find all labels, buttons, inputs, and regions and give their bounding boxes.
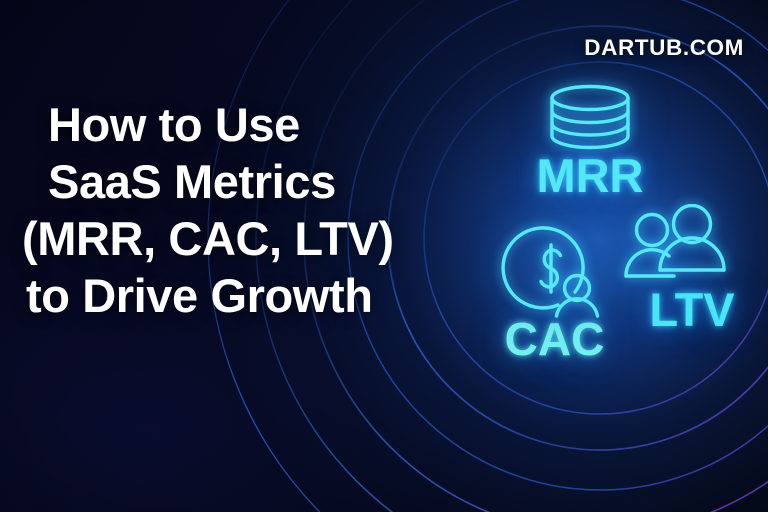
site-logo: DARTUB.COM	[584, 35, 744, 61]
title-line-2: SaaS Metrics	[22, 153, 432, 210]
page-title: How to Use SaaS Metrics (MRR, CAC, LTV) …	[22, 96, 432, 324]
title-line-4: to Drive Growth	[22, 267, 432, 324]
title-line-1: How to Use	[22, 96, 432, 153]
metric-mrr-label: MRR	[465, 152, 715, 199]
database-stack-icon	[546, 84, 634, 150]
title-block: How to Use SaaS Metrics (MRR, CAC, LTV) …	[22, 96, 432, 324]
banner-canvas: DARTUB.COM How to Use SaaS Metrics (MRR,…	[0, 0, 768, 512]
dollar-circle-person-icon	[501, 226, 609, 318]
two-users-icon	[622, 204, 732, 286]
metric-ltv-label: LTV	[612, 286, 768, 333]
metric-mrr: MRR	[465, 84, 715, 199]
metric-ltv: LTV	[612, 204, 768, 333]
title-line-3: (MRR, CAC, LTV)	[22, 210, 432, 267]
